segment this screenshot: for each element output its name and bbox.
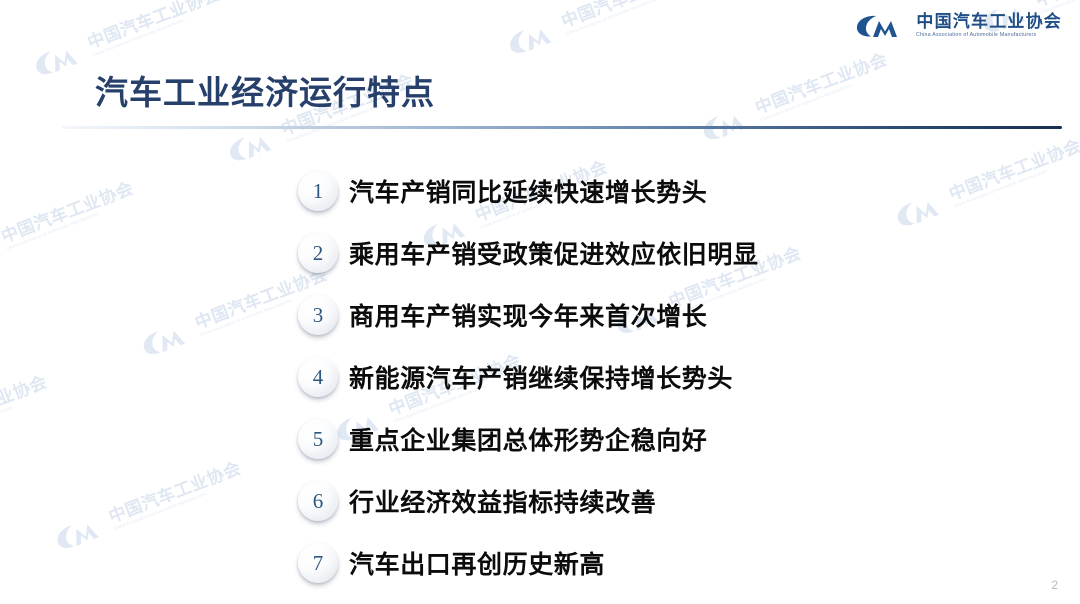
caam-cm-monogram-icon bbox=[135, 316, 196, 363]
caam-cm-monogram-icon bbox=[0, 229, 2, 276]
watermark-text-cn: 中国汽车工业协会 bbox=[753, 51, 890, 117]
list-item-label: 汽车产销同比延续快速增长势头 bbox=[349, 173, 707, 209]
watermark-text-cn: 中国汽车工业协会 bbox=[947, 137, 1080, 203]
caam-cm-monogram-icon bbox=[853, 11, 907, 41]
list-item-number-badge: 7 bbox=[298, 543, 338, 583]
watermark-text-en: China Association of Automobile Manufact… bbox=[566, 0, 698, 37]
caam-cm-monogram-icon bbox=[695, 101, 756, 148]
slide-canvas: 中国汽车工业协会China Association of Automobile … bbox=[0, 0, 1080, 604]
caam-cm-monogram-icon bbox=[27, 36, 88, 83]
list-item-number-badge: 6 bbox=[298, 481, 338, 521]
page-title: 汽车工业经济运行特点 bbox=[95, 66, 435, 114]
list-item-label: 行业经济效益指标持续改善 bbox=[349, 483, 656, 519]
watermark-tile: 中国汽车工业协会China Association of Automobile … bbox=[889, 134, 1080, 234]
watermark-text-cn: 中国汽车工业协会 bbox=[1033, 0, 1080, 10]
watermark-text-cn: 中国汽车工业协会 bbox=[0, 180, 136, 246]
watermark-tile: 中国汽车工业协会China Association of Automobile … bbox=[695, 48, 893, 148]
list-item-label: 重点企业集团总体形势企稳向好 bbox=[349, 421, 707, 457]
list-item: 5重点企业集团总体形势企稳向好 bbox=[298, 408, 759, 470]
list-item-label: 新能源汽车产销继续保持增长势头 bbox=[349, 359, 733, 395]
watermark-tile: 中国汽车工业协会China Association of Automobile … bbox=[0, 370, 53, 470]
list-item: 7汽车出口再创历史新高 bbox=[298, 532, 759, 594]
list-item-label: 汽车出口再创历史新高 bbox=[349, 545, 605, 581]
list-item: 1汽车产销同比延续快速增长势头 bbox=[298, 160, 759, 222]
watermark-text-en: China Association of Automobile Manufact… bbox=[954, 155, 1080, 209]
list-item: 6行业经济效益指标持续改善 bbox=[298, 470, 759, 532]
watermark-text-cn: 中国汽车工业协会 bbox=[0, 374, 50, 440]
watermark-text-cn: 中国汽车工业协会 bbox=[85, 0, 222, 52]
list-item-label: 乘用车产销受政策促进效应依旧明显 bbox=[349, 235, 759, 271]
watermark-text-en: China Association of Automobile Manufact… bbox=[760, 69, 892, 123]
list-item-number-badge: 1 bbox=[298, 171, 338, 211]
brand-name-cn: 中国汽车工业协会 bbox=[916, 13, 1062, 30]
caam-cm-monogram-icon bbox=[48, 509, 109, 556]
list-item-number-badge: 5 bbox=[298, 419, 338, 459]
list-item-number-badge: 3 bbox=[298, 295, 338, 335]
list-item: 3商用车产销实现今年来首次增长 bbox=[298, 284, 759, 346]
watermark-text-en: China Association of Automobile Manufact… bbox=[92, 4, 224, 58]
list-item: 4新能源汽车产销继续保持增长势头 bbox=[298, 346, 759, 408]
watermark-tile: 中国汽车工业协会China Association of Automobile … bbox=[48, 457, 246, 557]
brand-logo: 中国汽车工业协会 China Association of Automobile… bbox=[853, 11, 1062, 41]
list-item: 2乘用车产销受政策促进效应依旧明显 bbox=[298, 222, 759, 284]
watermark-text-en: China Association of Automobile Manufact… bbox=[113, 478, 245, 532]
watermark-text-en: China Association of Automobile Manufact… bbox=[6, 197, 138, 251]
title-divider bbox=[62, 126, 1062, 129]
brand-text: 中国汽车工业协会 China Association of Automobile… bbox=[916, 13, 1062, 38]
page-number: 2 bbox=[1051, 578, 1058, 592]
watermark-text-cn: 中国汽车工业协会 bbox=[107, 460, 244, 526]
caam-cm-monogram-icon bbox=[501, 14, 562, 61]
list-item-label: 商用车产销实现今年来首次增长 bbox=[349, 297, 707, 333]
caam-cm-monogram-icon bbox=[889, 187, 950, 234]
watermark-tile: 中国汽车工业协会China Association of Automobile … bbox=[501, 0, 699, 62]
brand-name-en: China Association of Automobile Manufact… bbox=[916, 33, 1065, 38]
watermark-text-cn: 中国汽车工业协会 bbox=[559, 0, 696, 31]
watermark-text-en: China Association of Automobile Manufact… bbox=[0, 391, 52, 445]
list-item-number-badge: 2 bbox=[298, 233, 338, 273]
highlights-list: 1汽车产销同比延续快速增长势头2乘用车产销受政策促进效应依旧明显3商用车产销实现… bbox=[298, 160, 759, 594]
watermark-tile: 中国汽车工业协会China Association of Automobile … bbox=[0, 177, 139, 277]
list-item-number-badge: 4 bbox=[298, 357, 338, 397]
